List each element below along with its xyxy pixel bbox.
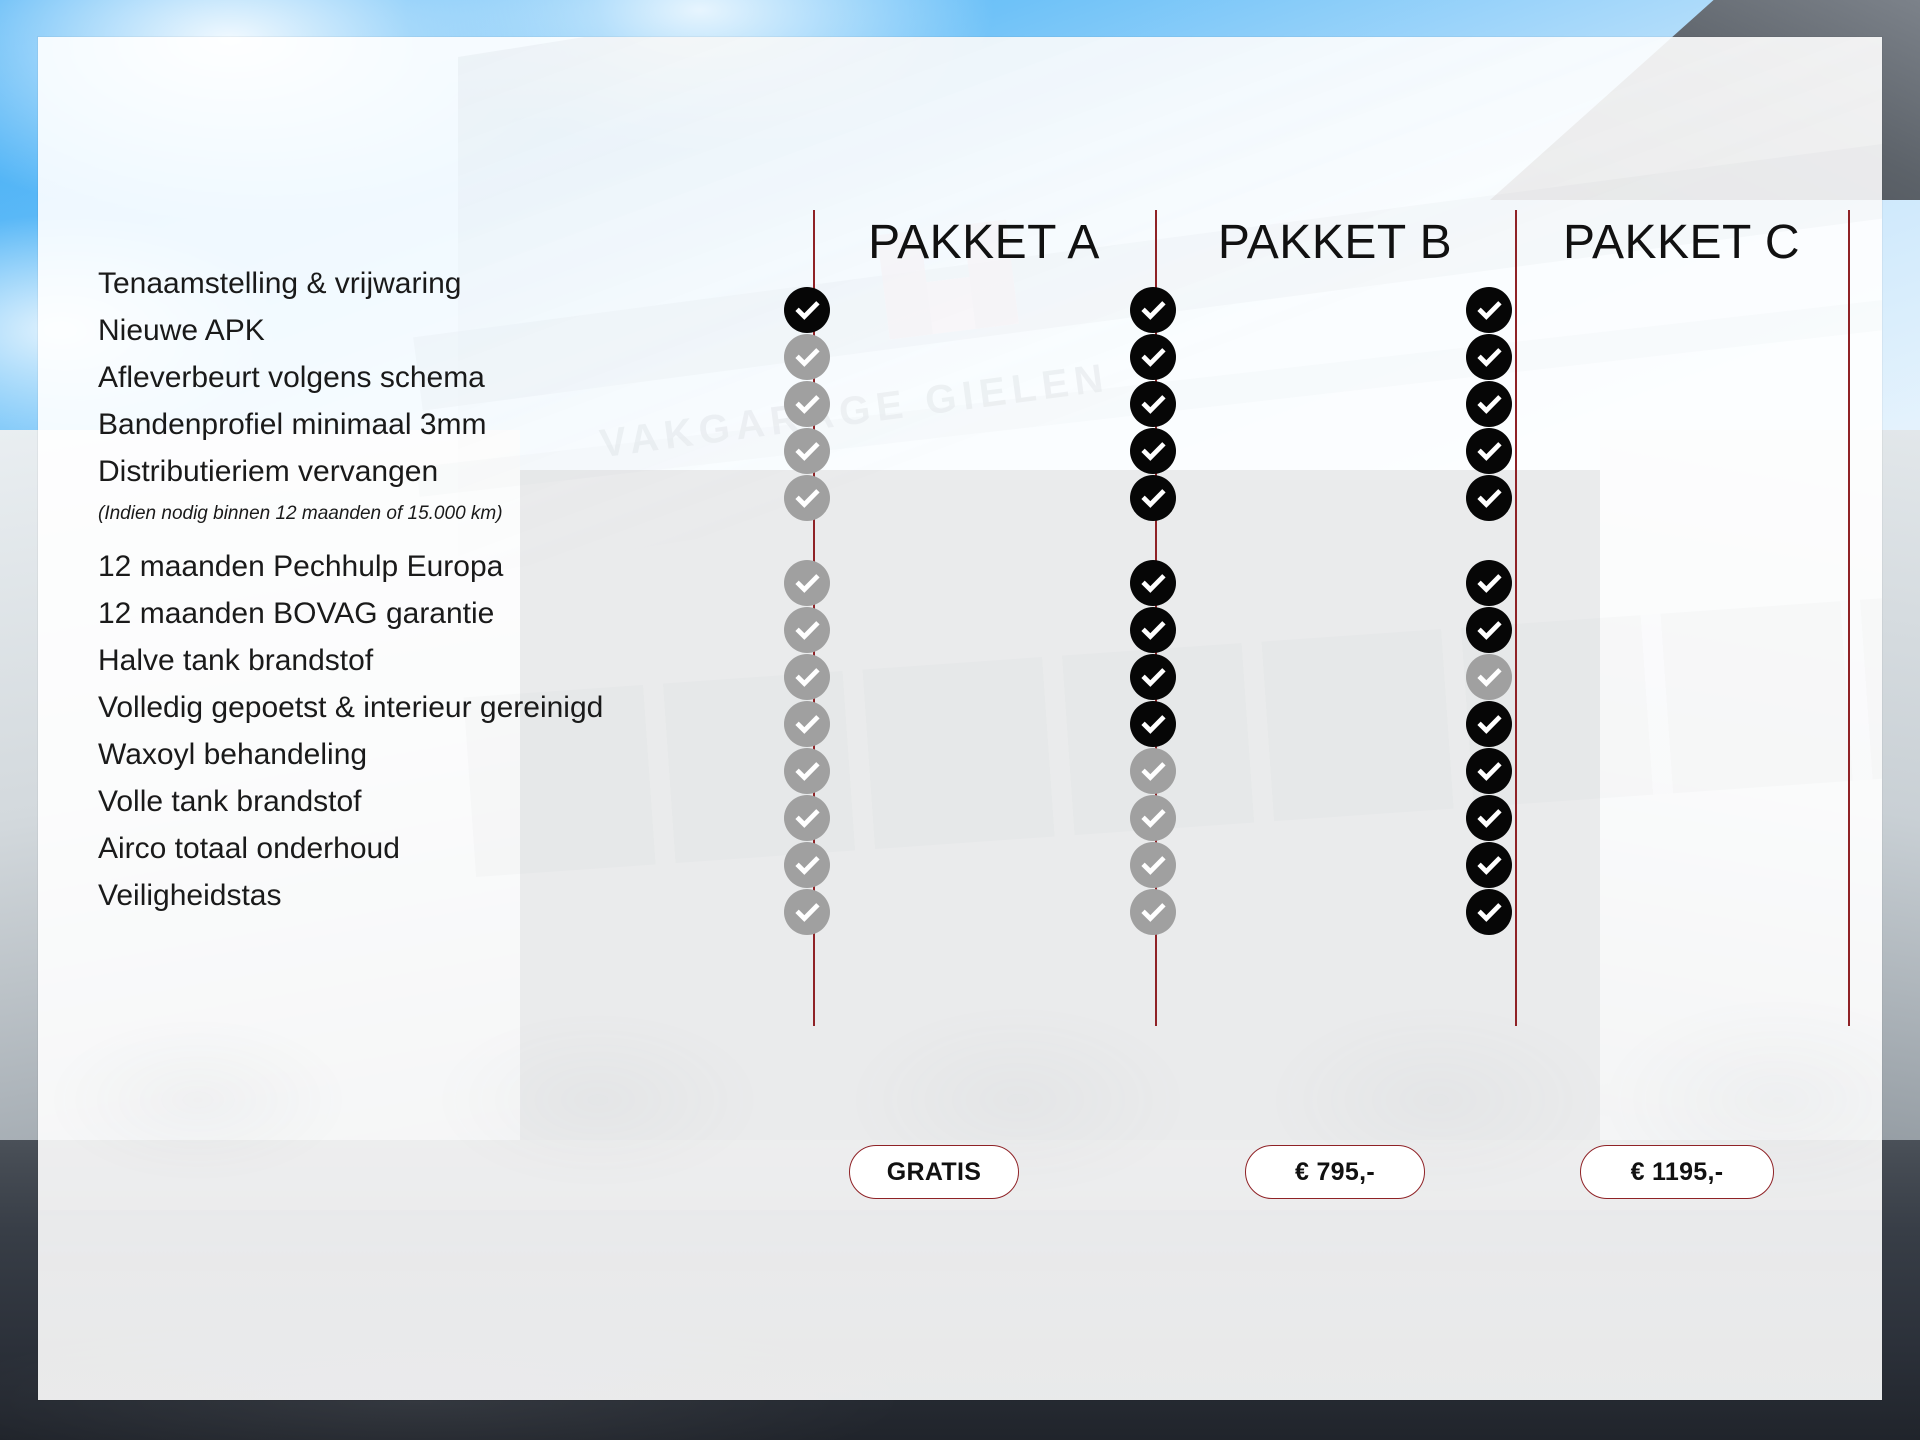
feature-label: 12 maanden BOVAG garantie: [98, 599, 494, 629]
package-header-c: PAKKET C: [1515, 215, 1848, 270]
check-icon: [784, 701, 830, 747]
check-icon: [1466, 795, 1512, 841]
check-icon: [784, 475, 830, 521]
check-icon: [1466, 748, 1512, 794]
check-icon: [1130, 607, 1176, 653]
check-icon: [1466, 475, 1512, 521]
divider-b-c: [1515, 210, 1517, 1026]
check-icon: [784, 381, 830, 427]
feature-note: (Indien nodig binnen 12 maanden of 15.00…: [98, 504, 503, 523]
check-icon: [1466, 287, 1512, 333]
check-icon: [1130, 381, 1176, 427]
feature-label: Airco totaal onderhoud: [98, 834, 400, 864]
feature-label: Waxoyl behandeling: [98, 740, 367, 770]
package-header-a: PAKKET A: [813, 215, 1155, 270]
price-button-a[interactable]: GRATIS: [849, 1145, 1019, 1199]
check-icon: [784, 654, 830, 700]
feature-label: Halve tank brandstof: [98, 646, 373, 676]
package-header-b: PAKKET B: [1155, 215, 1515, 270]
check-icon: [1130, 795, 1176, 841]
check-icon: [1466, 889, 1512, 935]
package-comparison-card: VAKGARAGE GIELEN PAKKET A PAKKET B PAKKE…: [38, 37, 1882, 1400]
check-icon: [1130, 560, 1176, 606]
feature-label: Bandenprofiel minimaal 3mm: [98, 410, 487, 440]
check-icon: [784, 748, 830, 794]
feature-label: 12 maanden Pechhulp Europa: [98, 552, 503, 582]
check-icon: [1466, 607, 1512, 653]
check-icon: [1130, 889, 1176, 935]
check-icon: [1466, 842, 1512, 888]
check-icon: [1130, 842, 1176, 888]
check-icon: [1466, 701, 1512, 747]
check-icon: [784, 889, 830, 935]
price-button-c[interactable]: € 1195,-: [1580, 1145, 1774, 1199]
feature-label: Volledig gepoetst & interieur gereinigd: [98, 693, 603, 723]
check-icon: [784, 560, 830, 606]
check-icon: [1130, 428, 1176, 474]
check-icon: [784, 334, 830, 380]
check-icon: [1130, 701, 1176, 747]
feature-label: Volle tank brandstof: [98, 787, 362, 817]
check-icon: [784, 287, 830, 333]
check-icon: [1130, 654, 1176, 700]
check-icon: [784, 842, 830, 888]
divider-right-c: [1848, 210, 1850, 1026]
screenshot-stage: VAKGARAGE GIELEN PAKKET A PAKKET B PAKKE…: [0, 0, 1920, 1440]
check-icon: [1130, 287, 1176, 333]
price-button-b[interactable]: € 795,-: [1245, 1145, 1425, 1199]
check-icon: [1466, 381, 1512, 427]
check-icon: [1466, 560, 1512, 606]
check-icon: [1130, 334, 1176, 380]
check-icon: [784, 795, 830, 841]
feature-label: Distributieriem vervangen: [98, 457, 438, 487]
check-icon: [784, 428, 830, 474]
check-icon: [784, 607, 830, 653]
feature-label: Tenaamstelling & vrijwaring: [98, 269, 462, 299]
check-icon: [1130, 475, 1176, 521]
check-icon: [1466, 334, 1512, 380]
check-icon: [1466, 654, 1512, 700]
feature-label: Nieuwe APK: [98, 316, 265, 346]
comparison-table: PAKKET A PAKKET B PAKKET C Tenaamstellin…: [38, 37, 1882, 1400]
feature-label: Veiligheidstas: [98, 881, 281, 911]
feature-label: Afleverbeurt volgens schema: [98, 363, 485, 393]
check-icon: [1130, 748, 1176, 794]
check-icon: [1466, 428, 1512, 474]
